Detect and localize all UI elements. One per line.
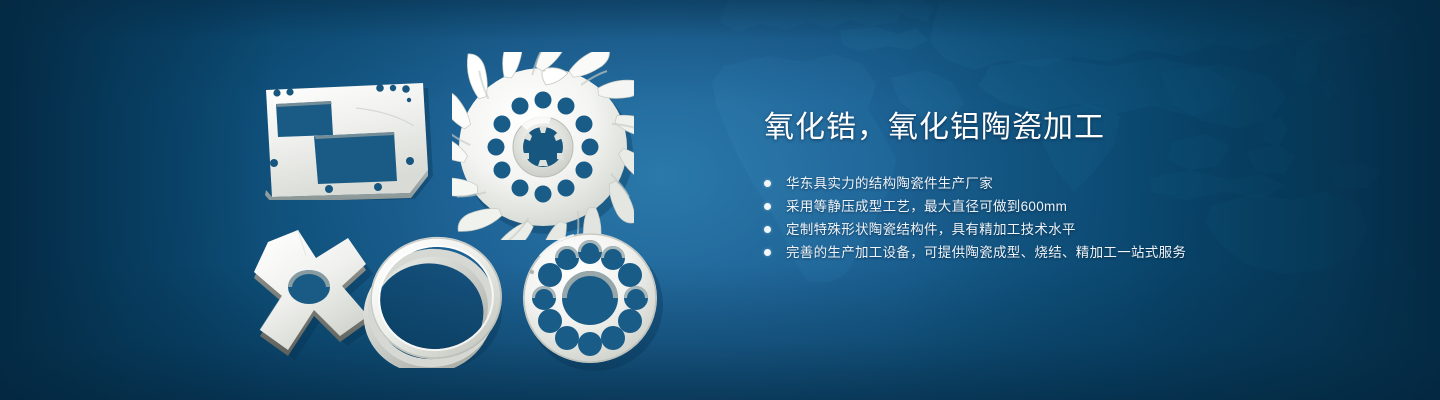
hero-headline: 氧化锆，氧化铝陶瓷加工 <box>764 108 1384 148</box>
feature-list-item: 华东具实力的结构陶瓷件生产厂家 <box>764 172 1384 195</box>
feature-text: 采用等静压成型工艺，最大直径可做到600mm <box>786 199 1067 214</box>
bullet-dot-icon <box>764 249 771 256</box>
bullet-dot-icon <box>764 226 771 233</box>
feature-list: 华东具实力的结构陶瓷件生产厂家 采用等静压成型工艺，最大直径可做到600mm 定… <box>764 172 1384 264</box>
feature-text: 华东具实力的结构陶瓷件生产厂家 <box>786 176 993 191</box>
feature-list-item: 完善的生产加工设备，可提供陶瓷成型、烧结、精加工一站式服务 <box>764 241 1384 264</box>
bullet-dot-icon <box>764 180 771 187</box>
hero-banner: 氧化锆，氧化铝陶瓷加工 华东具实力的结构陶瓷件生产厂家 采用等静压成型工艺，最大… <box>0 0 1440 400</box>
feature-list-item: 采用等静压成型工艺，最大直径可做到600mm <box>764 195 1384 218</box>
hero-text-block: 氧化锆，氧化铝陶瓷加工 华东具实力的结构陶瓷件生产厂家 采用等静压成型工艺，最大… <box>764 108 1384 264</box>
bullet-dot-icon <box>764 203 771 210</box>
feature-text: 完善的生产加工设备，可提供陶瓷成型、烧结、精加工一站式服务 <box>786 245 1186 260</box>
feature-text: 定制特殊形状陶瓷结构件，具有精加工技术水平 <box>786 222 1076 237</box>
feature-list-item: 定制特殊形状陶瓷结构件，具有精加工技术水平 <box>764 218 1384 241</box>
